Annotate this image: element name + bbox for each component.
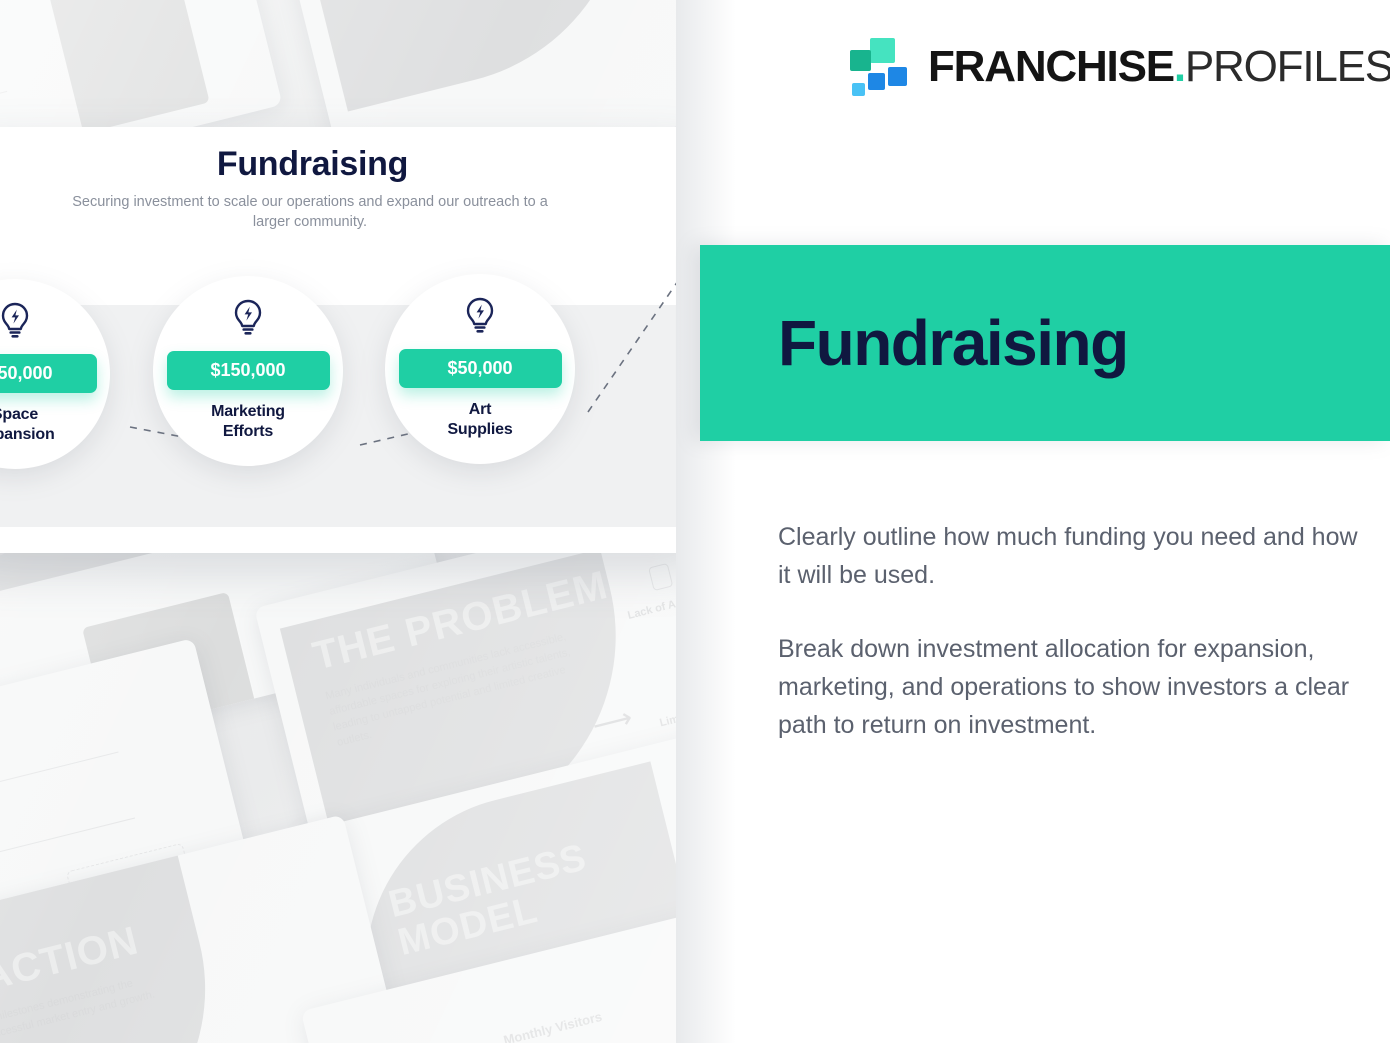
bg-stat-1-value: 1,000 [373,1039,444,1043]
lightbulb-bolt-icon [0,301,32,344]
bg-problem-title: THE PROBLEM [308,563,612,680]
lightbulb-bolt-icon [231,298,265,341]
bg-problem-point-2: Limited Resources [653,692,676,732]
bg-traction-title: TRACTION [0,918,143,1014]
bg-traction-body: Significant milestones demonstrating the… [0,969,170,1043]
logo-wordmark: FRANCHISE.PROFILES [928,42,1390,92]
funding-node-label-line1: Art [447,400,512,420]
description-paragraph-2: Break down investment allocation for exp… [778,630,1358,744]
funding-node-label-line2: Efforts [211,422,285,442]
bg-traction-shape [0,836,245,1043]
background-slide-traction: TRACTION Significant milestones demonstr… [0,814,422,1043]
funding-amount: $150,000 [167,351,330,390]
bg-market-image-block [42,0,209,134]
right-content-panel: FRANCHISE.PROFILES Fundraising Clearly o… [676,0,1390,1043]
bg-problem-shape [280,549,658,862]
bg-cover-image-block [82,592,264,774]
funding-node-label: Space Expansion [0,405,55,444]
slide-preview-page: MARKET ...ces in urban and ...s substant… [0,0,1390,1043]
funding-amount: $50,000 [399,349,562,388]
section-description: Clearly outline how much funding you nee… [778,518,1358,744]
lightbulb-bolt-icon [463,296,497,339]
section-heading: Fundraising [778,306,1128,380]
bg-problem-shape [290,0,668,112]
funding-node-label-line1: Space [0,405,55,425]
bg-problem-body: Many individuals and communities lack ac… [324,629,582,751]
bg-biz-body: Revenue generation through diverse strea… [413,936,648,1038]
funding-node-space-expansion[interactable]: $150,000 Space Expansion [0,279,110,469]
funding-node-marketing-efforts[interactable]: $150,000 Marketing Efforts [153,276,343,466]
bg-pricing-chart-placeholder [66,843,204,959]
bg-problem-point-1: Lack of Accessibility [626,584,676,624]
description-paragraph-1: Clearly outline how much funding you nee… [778,518,1358,594]
divider [0,817,135,898]
background-slide-problem-mid: THE PROBLEM Many individuals and communi… [254,482,676,957]
funding-amount: $150,000 [0,354,97,393]
funding-node-art-supplies[interactable]: $50,000 Art Supplies [385,274,575,464]
funding-nodes: $150,000 Space Expansion $150,000 [0,127,705,553]
bg-stat-1-label: Monthly Visitors [502,1009,604,1043]
funding-node-label: Marketing Efforts [211,402,285,441]
section-banner: Fundraising [700,245,1390,441]
background-slide-pricing: Drop-in Fees Workshops Commissioned Art … [0,638,273,1043]
logo-text-profiles: PROFILES [1185,42,1390,92]
bg-biz-shape [330,761,676,1043]
background-slide-business-model: BUSINESS MODEL Revenue generation throug… [297,717,676,1043]
funding-node-label: Art Supplies [447,400,512,439]
background-slide-metrics: 1,000 Monthly Visitors 75 Workshops Held [301,898,676,1043]
logo-text-dot: . [1174,42,1185,92]
funding-node-label-line1: Marketing [211,402,285,422]
divider [0,752,119,833]
arrow-right-icon: ⟶ [589,701,636,743]
brand-logo: FRANCHISE.PROFILES [850,38,1390,96]
logo-mark-icon [850,38,910,96]
bg-biz-title: BUSINESS MODEL [385,827,646,963]
logo-text-franchise: FRANCHISE [928,42,1174,92]
slide-preview-card: Fundraising Securing investment to scale… [0,127,705,553]
funding-node-label-line2: Supplies [447,420,512,440]
bg-problem-body: Many individuals and communities lack ac… [334,0,592,2]
funding-node-label-line2: Expansion [0,425,55,445]
document-icon [648,563,673,591]
